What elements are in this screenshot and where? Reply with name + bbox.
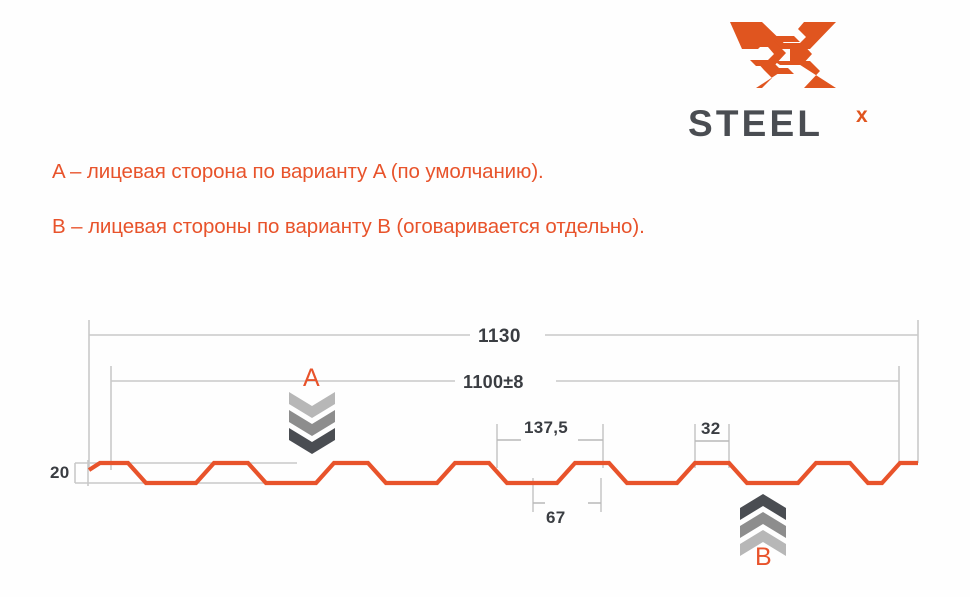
- dimension-label-valley-width: 67: [546, 508, 566, 528]
- dimension-label-rib-top-width: 32: [701, 419, 721, 439]
- dimension-label-useful-width: 1100±8: [463, 372, 524, 393]
- steelx-wordmark: STEEL x: [688, 102, 903, 146]
- steelx-x-mark-icon: [728, 16, 838, 94]
- dimension-label-height: 20: [50, 463, 70, 483]
- chevron-down-icon: [287, 390, 337, 456]
- dimension-label-overall-width: 1130: [478, 326, 521, 348]
- dimension-label-rib-pitch: 137,5: [524, 418, 568, 438]
- note-variant-b: B – лицевая стороны по варианту B (огова…: [52, 215, 645, 239]
- wordmark-text: STEEL: [688, 103, 823, 144]
- sheet-profile-path: [89, 463, 918, 483]
- side-b-marker-letter: B: [755, 543, 772, 572]
- side-a-marker-letter: A: [303, 364, 320, 393]
- wordmark-superscript: x: [856, 104, 868, 127]
- steelx-logo: STEEL x: [688, 16, 903, 146]
- note-variant-a: A – лицевая сторона по варианту A (по ум…: [52, 160, 544, 184]
